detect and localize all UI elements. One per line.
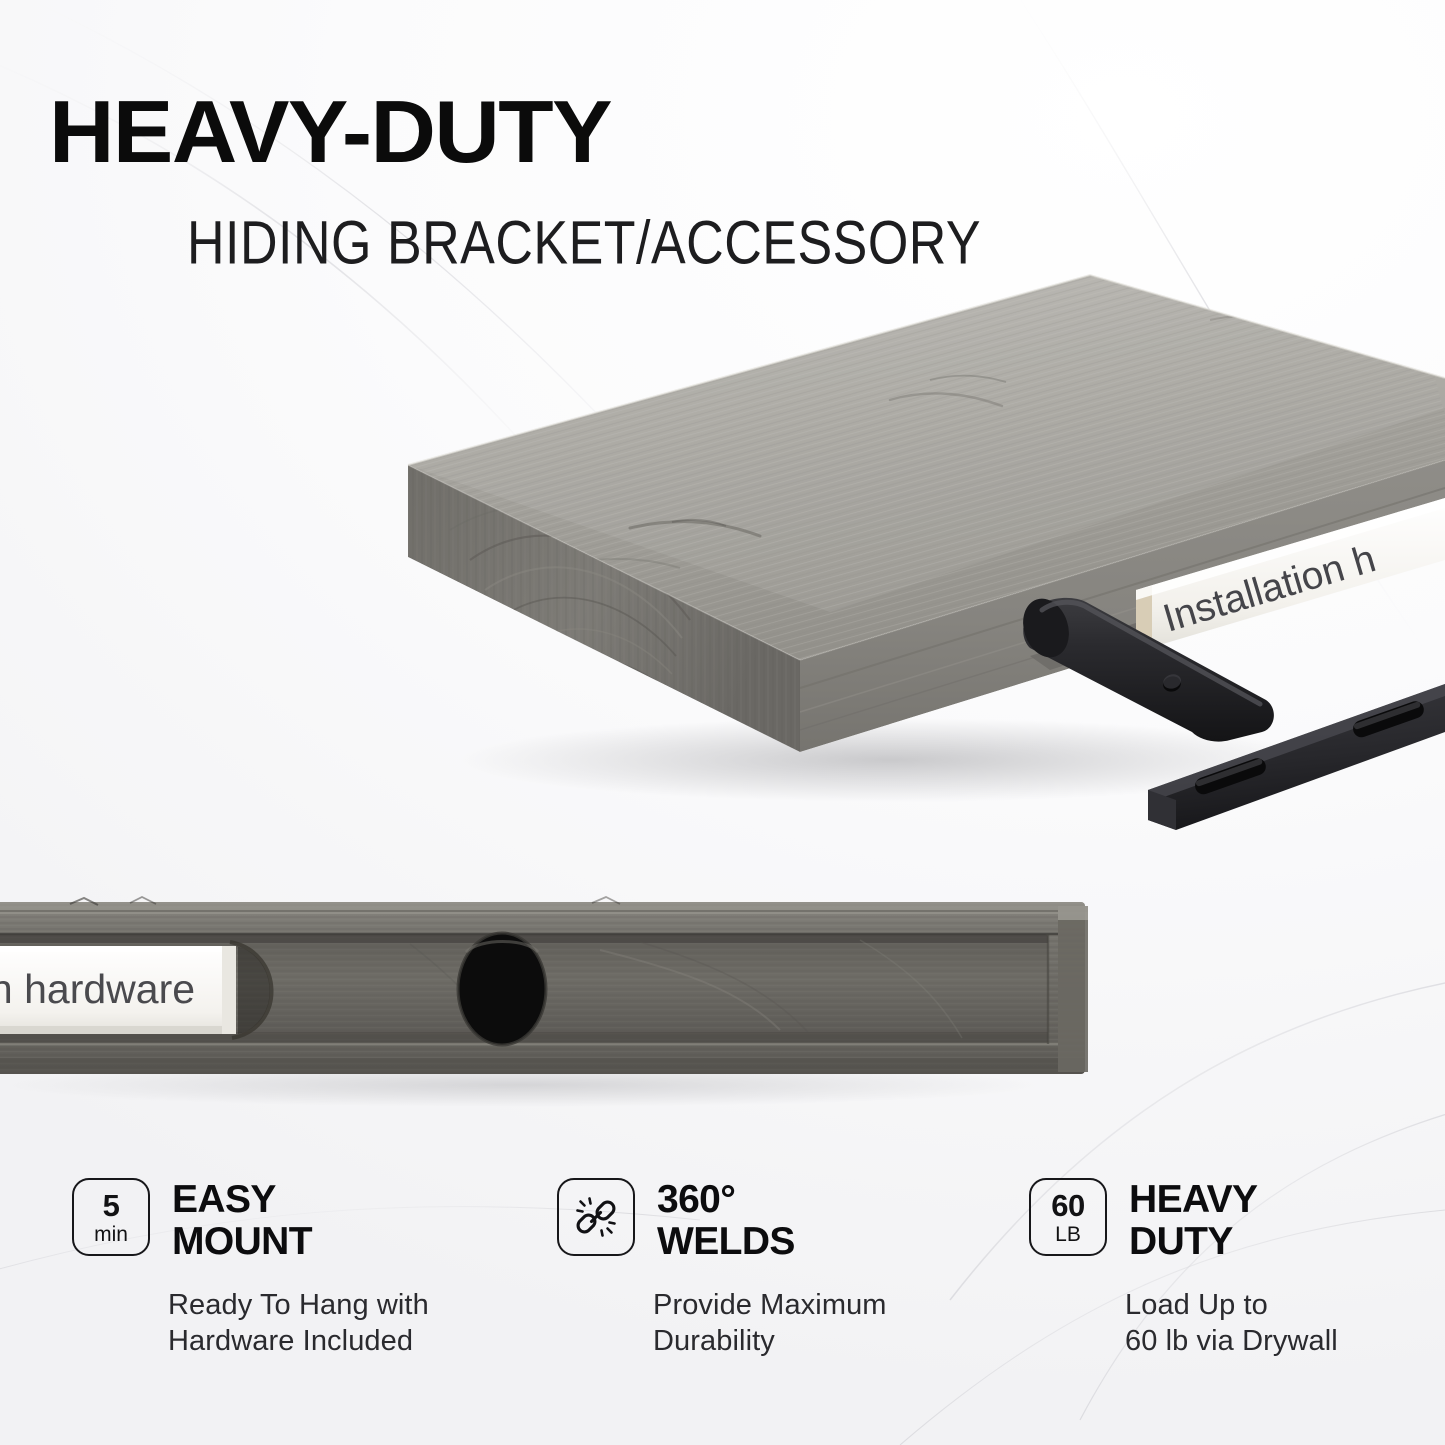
feature-desc-line-1: Load Up to xyxy=(1125,1288,1445,1323)
feature-desc-line-2: 60 lb via Drywall xyxy=(1125,1324,1445,1359)
feature-desc-line-1: Ready To Hang with xyxy=(168,1288,542,1323)
product-infographic: HEAVY-DUTY HIDING BRACKET/ACCESSORY xyxy=(0,0,1445,1445)
badge-secondary-value: LB xyxy=(1055,1224,1081,1245)
feature-desc-line-2: Durability xyxy=(653,1324,1019,1359)
feature-title-line-2: MOUNT xyxy=(172,1221,312,1263)
badge-primary-value: 60 xyxy=(1051,1190,1084,1221)
feature-description: Provide Maximum Durability xyxy=(653,1288,1019,1359)
feature-title-line-2: WELDS xyxy=(657,1221,795,1263)
feature-title-line-1: HEAVY xyxy=(1129,1179,1257,1221)
main-product-photo-shelf-with-bracket: Installation h xyxy=(330,260,1445,830)
chain-link-weld-icon xyxy=(574,1195,618,1239)
feature-title-line-1: EASY xyxy=(172,1179,312,1221)
feature-desc-line-1: Provide Maximum xyxy=(653,1288,1019,1323)
feature-description: Load Up to 60 lb via Drywall xyxy=(1125,1288,1445,1359)
feature-easy-mount: 5 min EASY MOUNT Ready To Hang with Hard… xyxy=(0,1178,542,1428)
feature-360-welds: 360° WELDS Provide Maximum Durability xyxy=(542,1178,1019,1428)
page-title: HEAVY-DUTY xyxy=(49,88,611,176)
badge-5-min: 5 min xyxy=(72,1178,150,1256)
feature-heading: 360° WELDS xyxy=(557,1178,1019,1262)
feature-heavy-duty: 60 LB HEAVY DUTY Load Up to 60 lb via Dr… xyxy=(1019,1178,1445,1428)
badge-primary-value: 5 xyxy=(103,1190,120,1221)
badge-60-lb: 60 LB xyxy=(1029,1178,1107,1256)
feature-heading: 5 min EASY MOUNT xyxy=(72,1178,542,1262)
feature-desc-line-2: Hardware Included xyxy=(168,1324,542,1359)
feature-title: 360° WELDS xyxy=(657,1178,795,1262)
feature-description: Ready To Hang with Hardware Included xyxy=(168,1288,542,1359)
feature-title: HEAVY DUTY xyxy=(1129,1178,1257,1262)
badge-weld-icon-box xyxy=(557,1178,635,1256)
feature-heading: 60 LB HEAVY DUTY xyxy=(1029,1178,1445,1262)
feature-title-line-2: DUTY xyxy=(1129,1221,1257,1263)
section-product-photo-shelf-channel: ion hardware xyxy=(0,880,1140,1120)
feature-title: EASY MOUNT xyxy=(172,1178,312,1262)
badge-secondary-value: min xyxy=(94,1224,128,1245)
section-label-text: ion hardware xyxy=(0,966,195,1012)
section-installation-label: ion hardware xyxy=(0,942,272,1038)
feature-title-line-1: 360° xyxy=(657,1179,795,1221)
feature-strip: 5 min EASY MOUNT Ready To Hang with Hard… xyxy=(0,1178,1445,1428)
